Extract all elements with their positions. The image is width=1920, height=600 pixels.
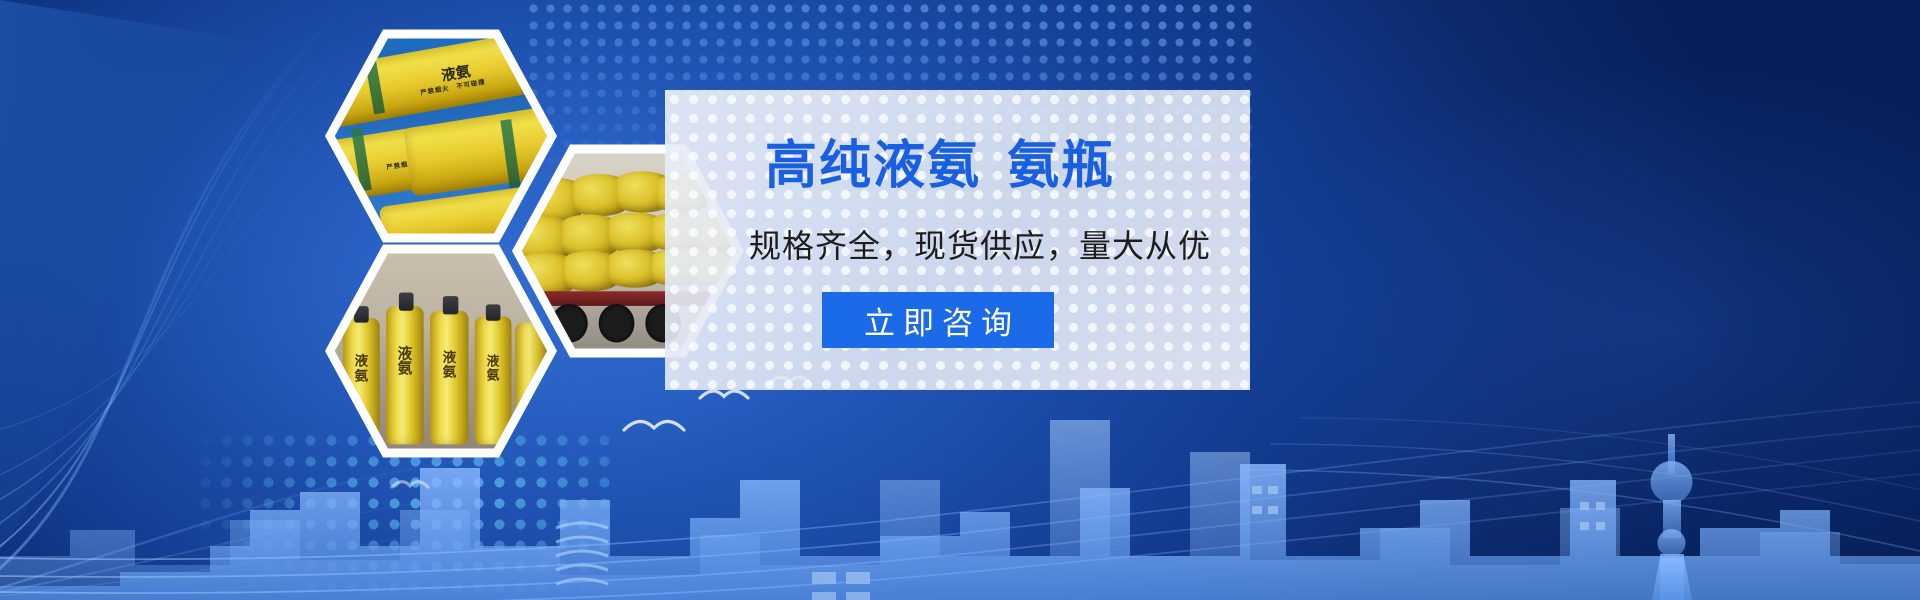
banner-subtitle: 规格齐全，现货供应，量大从优 bbox=[749, 230, 1249, 262]
banner-title: 高纯液氨氨瓶 bbox=[765, 140, 1235, 192]
promo-banner: 液氨 严禁烟火 不可碰撞 液氨 严禁烟火 不可碰撞 bbox=[0, 0, 1920, 600]
banner-title-part1: 高纯液氨 bbox=[765, 137, 981, 195]
photo-standing-cylinders-image: 液氨 液氨 液氨 液氨 bbox=[335, 249, 547, 452]
consult-now-button[interactable]: 立即咨询 bbox=[822, 292, 1054, 348]
headline-panel-content: 高纯液氨氨瓶 规格齐全，现货供应，量大从优 立即咨询 bbox=[665, 90, 1250, 390]
photo-cylinder-closeup-image: 液氨 严禁烟火 不可碰撞 液氨 严禁烟火 不可碰撞 bbox=[335, 34, 547, 237]
banner-title-part2: 氨瓶 bbox=[1007, 137, 1115, 195]
city-skyline-decor bbox=[0, 360, 1920, 600]
